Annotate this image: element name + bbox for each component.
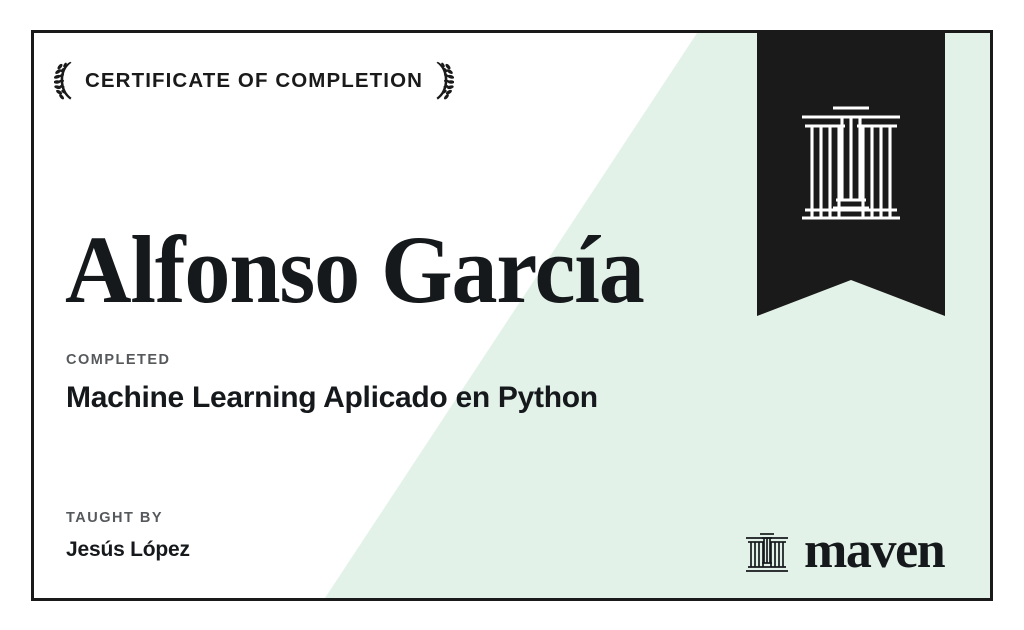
completed-label: COMPLETED — [66, 353, 598, 368]
completion-block: COMPLETED Machine Learning Aplicado en P… — [66, 353, 598, 414]
certificate-page: CERTIFICATE OF COMPLETION — [0, 0, 1024, 630]
maven-ribbon-emblem — [757, 30, 945, 316]
page-title: CERTIFICATE OF COMPLETION — [85, 71, 423, 92]
laurel-branch-right-icon — [432, 60, 454, 102]
laurel-branch-left-icon — [54, 60, 76, 102]
certificate-header: CERTIFICATE OF COMPLETION — [54, 60, 454, 102]
certificate-frame: CERTIFICATE OF COMPLETION — [31, 30, 993, 601]
taught-by-label: TAUGHT BY — [66, 511, 190, 526]
maven-logo: maven — [744, 525, 944, 577]
instructor-block: TAUGHT BY Jesús López — [66, 511, 190, 561]
recipient-name: Alfonso García — [65, 218, 644, 322]
course-title: Machine Learning Aplicado en Python — [66, 381, 598, 414]
temple-columns-icon — [744, 529, 790, 573]
instructor-name: Jesús López — [66, 538, 190, 561]
ribbon-shape — [757, 30, 945, 316]
maven-wordmark: maven — [804, 525, 944, 577]
